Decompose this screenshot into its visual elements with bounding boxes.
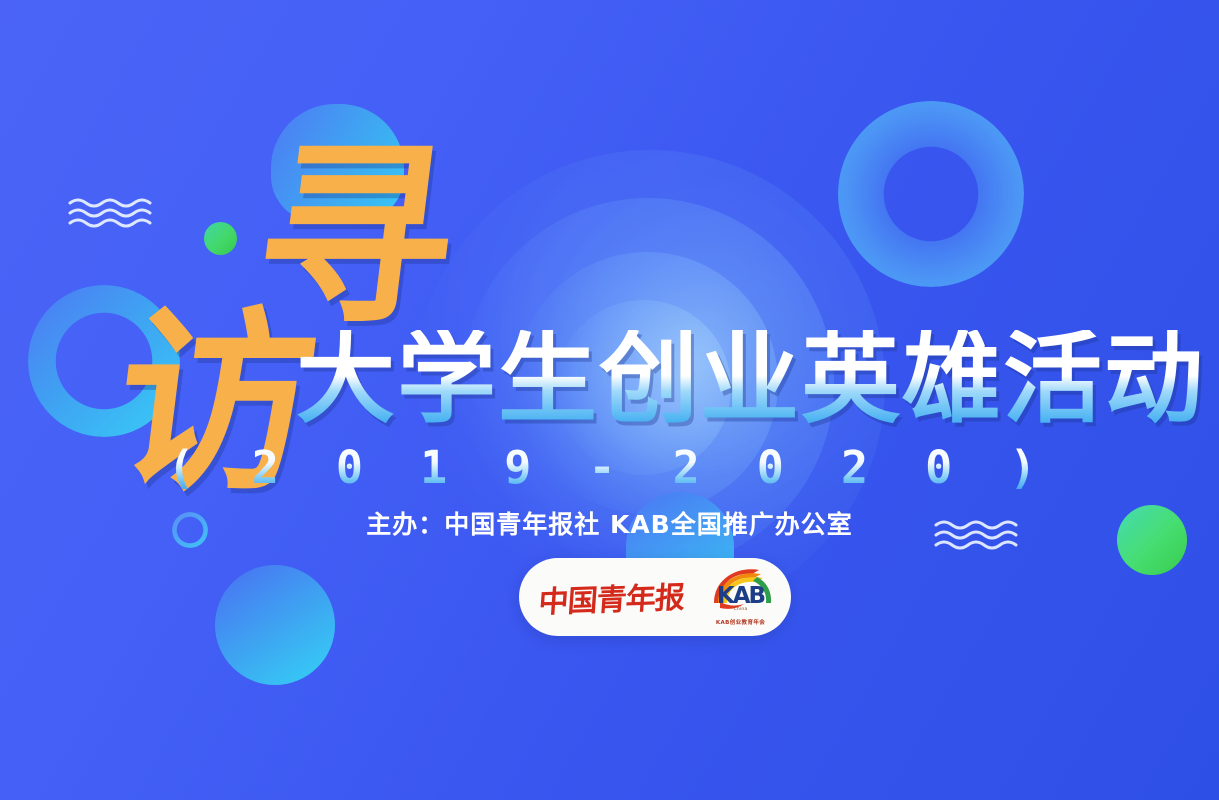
china-youth-daily-logo: 中国青年报	[537, 572, 686, 621]
kab-letters: KAB	[710, 583, 772, 609]
page-title: 大学生创业英雄活动	[296, 330, 1205, 429]
sponsor-logo-pill: 中国青年报 KAB China KAB创业教育年会	[519, 558, 791, 636]
kab-sub-label: China	[710, 607, 772, 612]
promo-banner: 寻 访 大学生创业英雄活动 ( 2 0 1 9 - 2 0 2 0 ) 主办：中…	[0, 0, 1219, 800]
event-years: ( 2 0 1 9 - 2 0 2 0 )	[0, 441, 1219, 494]
organizer-line: 主办：中国青年报社 KAB全国推广办公室	[0, 505, 1219, 541]
kab-logo: KAB China KAB创业教育年会	[710, 569, 772, 625]
kab-caption: KAB创业教育年会	[702, 618, 780, 626]
